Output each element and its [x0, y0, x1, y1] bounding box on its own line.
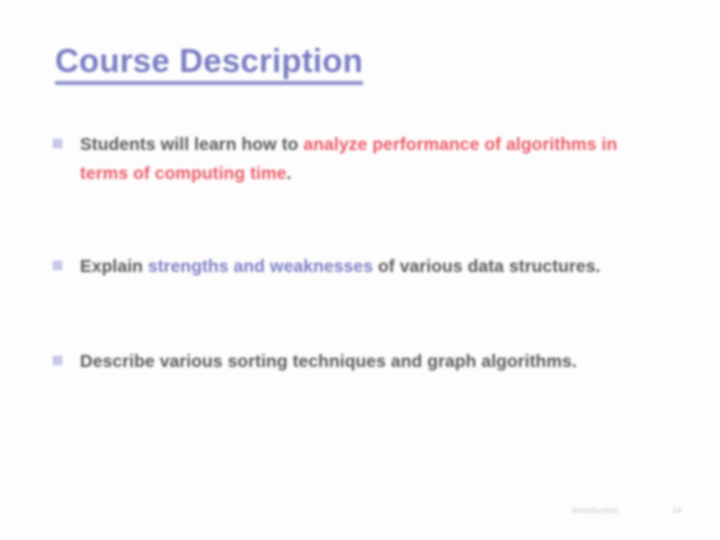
- slide-footer: Introduction 14: [0, 505, 720, 525]
- list-item: Describe various sorting techniques and …: [50, 347, 650, 376]
- square-bullet-icon: [53, 356, 62, 365]
- list-item: Explain strengths and weaknesses of vari…: [50, 252, 650, 281]
- bullet-text-segment: Students will learn how to: [80, 134, 303, 154]
- bullet-text-segment: Explain: [80, 256, 148, 276]
- bullet-text-segment: of various data structures.: [373, 256, 600, 276]
- bullet-text-segment: .: [286, 163, 291, 183]
- square-bullet-icon: [53, 139, 62, 148]
- bullet-text-segment-highlight: strengths and weaknesses: [148, 256, 373, 276]
- bullet-text-segment: Describe various sorting techniques and …: [80, 351, 577, 371]
- footer-label: Introduction: [572, 505, 619, 515]
- presentation-slide: Course Description Students will learn h…: [0, 0, 720, 540]
- page-title: Course Description: [55, 42, 363, 85]
- slide-title-block: Course Description: [55, 42, 655, 85]
- square-bullet-icon: [53, 261, 62, 270]
- footer-page-number: 14: [672, 505, 681, 515]
- bullet-list: Students will learn how to analyze perfo…: [50, 130, 650, 376]
- list-item: Students will learn how to analyze perfo…: [50, 130, 650, 188]
